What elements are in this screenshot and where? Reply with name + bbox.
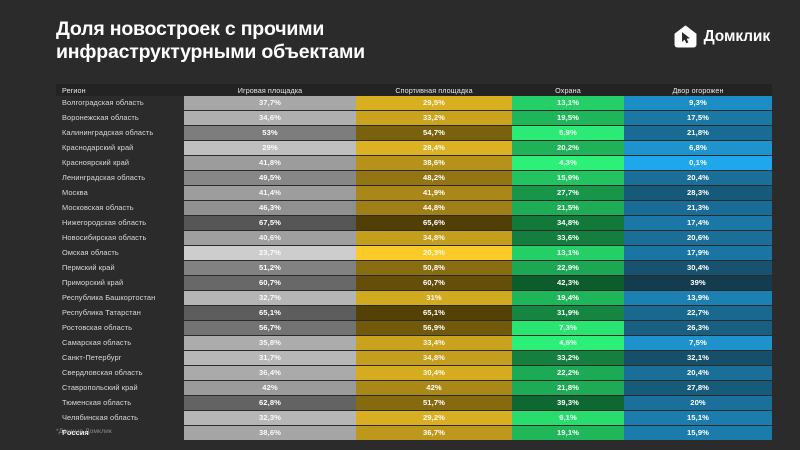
row-label-region: Самарская область	[56, 336, 184, 351]
table-row: Новосибирская область40,6%34,8%33,6%20,6…	[56, 231, 772, 246]
column-header-security: Охрана	[512, 84, 624, 96]
cell-yard: 26,3%	[624, 321, 772, 336]
source-footnote: *Данные Домклик	[56, 428, 112, 435]
table-header: Регион Игровая площадка Спортивная площа…	[56, 84, 772, 96]
row-label-region: Челябинская область	[56, 411, 184, 426]
cell-sport: 44,8%	[356, 201, 512, 216]
row-label-region: Волгоградская область	[56, 96, 184, 111]
cell-playground: 31,7%	[184, 351, 356, 366]
cell-yard: 15,1%	[624, 411, 772, 426]
cell-yard: 30,4%	[624, 261, 772, 276]
cell-security: 9,1%	[512, 411, 624, 426]
cell-playground: 41,8%	[184, 156, 356, 171]
row-label-region: Новосибирская область	[56, 231, 184, 246]
cell-security: 33,2%	[512, 351, 624, 366]
cell-security: 33,6%	[512, 231, 624, 246]
cell-playground: 67,5%	[184, 216, 356, 231]
cell-playground: 62,8%	[184, 396, 356, 411]
table-row: Пермский край51,2%50,8%22,9%30,4%	[56, 261, 772, 276]
cell-yard: 17,4%	[624, 216, 772, 231]
cell-playground: 60,7%	[184, 276, 356, 291]
cell-playground: 65,1%	[184, 306, 356, 321]
table-row: Россия38,6%36,7%19,1%15,9%	[56, 426, 772, 441]
cell-sport: 51,7%	[356, 396, 512, 411]
table-row: Волгоградская область37,7%29,5%13,1%9,3%	[56, 96, 772, 111]
domklik-house-cursor-icon	[673, 24, 698, 49]
cell-yard: 7,5%	[624, 336, 772, 351]
table-row: Краснодарский край29%28,4%20,2%6,8%	[56, 141, 772, 156]
cell-yard: 28,3%	[624, 186, 772, 201]
page-header: Доля новостроек с прочими инфраструктурн…	[0, 0, 800, 78]
cell-sport: 65,1%	[356, 306, 512, 321]
row-label-region: Калининградская область	[56, 126, 184, 141]
cell-yard: 39%	[624, 276, 772, 291]
cell-sport: 48,2%	[356, 171, 512, 186]
table-row: Воронежская область34,6%33,2%19,5%17,5%	[56, 111, 772, 126]
table-header-row: Регион Игровая площадка Спортивная площа…	[56, 84, 772, 96]
cell-security: 21,8%	[512, 381, 624, 396]
table-row: Челябинская область32,3%29,2%9,1%15,1%	[56, 411, 772, 426]
cell-sport: 33,2%	[356, 111, 512, 126]
column-header-yard: Двор огорожен	[624, 84, 772, 96]
table-row: Красноярский край41,8%38,6%4,3%0,1%	[56, 156, 772, 171]
row-label-region: Нижегородская область	[56, 216, 184, 231]
cell-security: 22,2%	[512, 366, 624, 381]
cell-security: 31,9%	[512, 306, 624, 321]
row-label-region: Краснодарский край	[56, 141, 184, 156]
cell-security: 13,1%	[512, 96, 624, 111]
table-row: Тюменская область62,8%51,7%39,3%20%	[56, 396, 772, 411]
cell-yard: 27,8%	[624, 381, 772, 396]
cell-playground: 56,7%	[184, 321, 356, 336]
row-label-region: Ленинградская область	[56, 171, 184, 186]
cell-sport: 65,6%	[356, 216, 512, 231]
table-row: Самарская область35,8%33,4%4,6%7,5%	[56, 336, 772, 351]
cell-sport: 41,9%	[356, 186, 512, 201]
page-title: Доля новостроек с прочими инфраструктурн…	[56, 18, 576, 64]
cell-sport: 42%	[356, 381, 512, 396]
row-label-region: Московская область	[56, 201, 184, 216]
cell-yard: 21,3%	[624, 201, 772, 216]
cell-sport: 60,7%	[356, 276, 512, 291]
row-label-region: Красноярский край	[56, 156, 184, 171]
cell-yard: 15,9%	[624, 426, 772, 441]
row-label-region: Омская область	[56, 246, 184, 261]
cell-playground: 51,2%	[184, 261, 356, 276]
column-header-playground: Игровая площадка	[184, 84, 356, 96]
cell-sport: 56,9%	[356, 321, 512, 336]
column-header-sport: Спортивная площадка	[356, 84, 512, 96]
table-row: Свердловская область36,4%30,4%22,2%20,4%	[56, 366, 772, 381]
brand-name: Домклик	[704, 28, 770, 46]
table-row: Республика Башкортостан32,7%31%19,4%13,9…	[56, 291, 772, 306]
row-label-region: Москва	[56, 186, 184, 201]
cell-yard: 20%	[624, 396, 772, 411]
cell-playground: 35,8%	[184, 336, 356, 351]
cell-sport: 34,8%	[356, 231, 512, 246]
row-label-region: Приморский край	[56, 276, 184, 291]
cell-sport: 31%	[356, 291, 512, 306]
cell-security: 7,3%	[512, 321, 624, 336]
cell-playground: 32,3%	[184, 411, 356, 426]
cell-sport: 36,7%	[356, 426, 512, 441]
table-row: Москва41,4%41,9%27,7%28,3%	[56, 186, 772, 201]
cell-sport: 34,8%	[356, 351, 512, 366]
cell-playground: 38,6%	[184, 426, 356, 441]
cell-playground: 46,3%	[184, 201, 356, 216]
cell-sport: 50,8%	[356, 261, 512, 276]
table-row: Ленинградская область49,5%48,2%15,9%20,4…	[56, 171, 772, 186]
cell-security: 22,9%	[512, 261, 624, 276]
row-label-region: Республика Татарстан	[56, 306, 184, 321]
cell-yard: 32,1%	[624, 351, 772, 366]
table-row: Санкт-Петербург31,7%34,8%33,2%32,1%	[56, 351, 772, 366]
row-label-region: Свердловская область	[56, 366, 184, 381]
row-label-region: Воронежская область	[56, 111, 184, 126]
table-row: Приморский край60,7%60,7%42,3%39%	[56, 276, 772, 291]
cell-yard: 20,6%	[624, 231, 772, 246]
cell-security: 19,4%	[512, 291, 624, 306]
table-row: Нижегородская область67,5%65,6%34,8%17,4…	[56, 216, 772, 231]
cell-yard: 17,9%	[624, 246, 772, 261]
cell-security: 4,6%	[512, 336, 624, 351]
cell-sport: 29,2%	[356, 411, 512, 426]
column-header-region: Регион	[56, 84, 184, 96]
cell-sport: 54,7%	[356, 126, 512, 141]
cell-yard: 20,4%	[624, 366, 772, 381]
cell-yard: 13,9%	[624, 291, 772, 306]
row-label-region: Санкт-Петербург	[56, 351, 184, 366]
cell-security: 13,1%	[512, 246, 624, 261]
cell-yard: 9,3%	[624, 96, 772, 111]
cell-playground: 29%	[184, 141, 356, 156]
table-row: Республика Татарстан65,1%65,1%31,9%22,7%	[56, 306, 772, 321]
cell-playground: 40,6%	[184, 231, 356, 246]
table-body: Волгоградская область37,7%29,5%13,1%9,3%…	[56, 96, 772, 440]
table-row: Ростовская область56,7%56,9%7,3%26,3%	[56, 321, 772, 336]
cell-security: 15,9%	[512, 171, 624, 186]
cell-playground: 41,4%	[184, 186, 356, 201]
cell-sport: 30,4%	[356, 366, 512, 381]
cell-yard: 0,1%	[624, 156, 772, 171]
cell-playground: 23,7%	[184, 246, 356, 261]
cell-yard: 6,8%	[624, 141, 772, 156]
cell-security: 20,2%	[512, 141, 624, 156]
table-row: Ставропольский край42%42%21,8%27,8%	[56, 381, 772, 396]
cell-security: 5,9%	[512, 126, 624, 141]
row-label-region: Пермский край	[56, 261, 184, 276]
cell-sport: 33,4%	[356, 336, 512, 351]
table-row: Омская область23,7%20,3%13,1%17,9%	[56, 246, 772, 261]
cell-playground: 34,6%	[184, 111, 356, 126]
cell-security: 39,3%	[512, 396, 624, 411]
cell-security: 4,3%	[512, 156, 624, 171]
cell-security: 19,1%	[512, 426, 624, 441]
infographic-page: Доля новостроек с прочими инфраструктурн…	[0, 0, 800, 450]
cell-yard: 21,8%	[624, 126, 772, 141]
heatmap-table: Регион Игровая площадка Спортивная площа…	[56, 84, 772, 440]
row-label-region: Тюменская область	[56, 396, 184, 411]
cell-playground: 42%	[184, 381, 356, 396]
brand-logo: Домклик	[673, 24, 770, 49]
cell-playground: 32,7%	[184, 291, 356, 306]
cell-playground: 37,7%	[184, 96, 356, 111]
cell-security: 27,7%	[512, 186, 624, 201]
cell-security: 21,5%	[512, 201, 624, 216]
cell-yard: 17,5%	[624, 111, 772, 126]
cell-sport: 38,6%	[356, 156, 512, 171]
cell-playground: 36,4%	[184, 366, 356, 381]
cell-security: 19,5%	[512, 111, 624, 126]
table-row: Московская область46,3%44,8%21,5%21,3%	[56, 201, 772, 216]
cell-security: 34,8%	[512, 216, 624, 231]
cell-yard: 22,7%	[624, 306, 772, 321]
cell-sport: 20,3%	[356, 246, 512, 261]
cell-playground: 49,5%	[184, 171, 356, 186]
cell-yard: 20,4%	[624, 171, 772, 186]
heatmap-table-container: Регион Игровая площадка Спортивная площа…	[56, 84, 772, 440]
row-label-region: Ростовская область	[56, 321, 184, 336]
cell-security: 42,3%	[512, 276, 624, 291]
row-label-region: Республика Башкортостан	[56, 291, 184, 306]
row-label-region: Ставропольский край	[56, 381, 184, 396]
cell-playground: 53%	[184, 126, 356, 141]
table-row: Калининградская область53%54,7%5,9%21,8%	[56, 126, 772, 141]
cell-sport: 29,5%	[356, 96, 512, 111]
cell-sport: 28,4%	[356, 141, 512, 156]
